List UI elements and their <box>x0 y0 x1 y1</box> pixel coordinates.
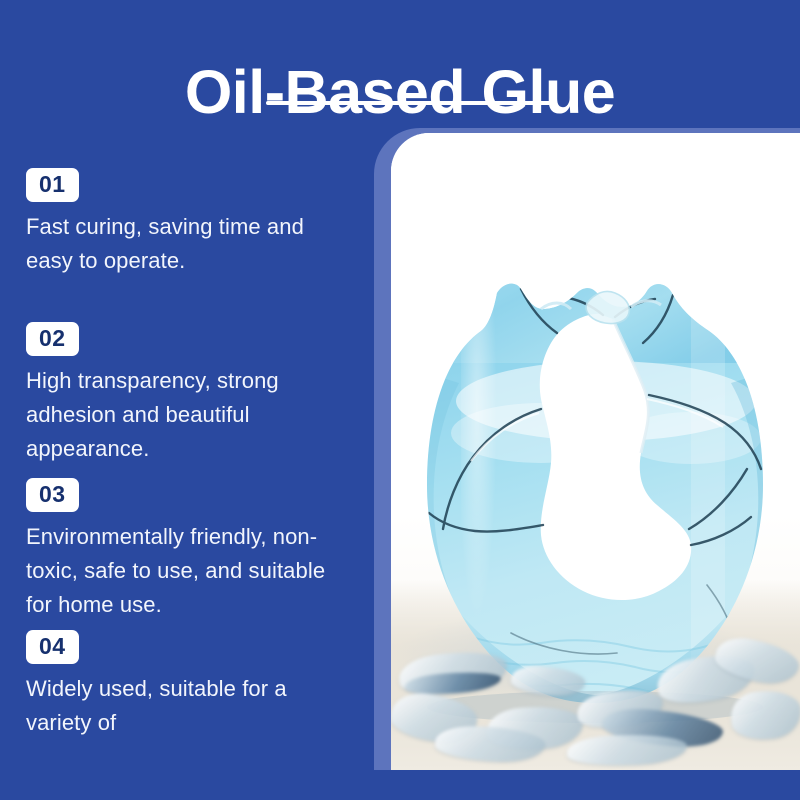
page-title: Oil-Based Glue <box>0 57 800 127</box>
feature-text: High transparency, strong adhesion and b… <box>26 364 341 466</box>
feature-list: 01 Fast curing, saving time and easy to … <box>26 168 351 740</box>
feature-text: Widely used, suitable for a variety of <box>26 672 341 740</box>
feature-number-badge: 04 <box>26 630 79 664</box>
feature-number-badge: 01 <box>26 168 79 202</box>
feature-item-04: 04 Widely used, suitable for a variety o… <box>26 630 351 740</box>
feature-text: Fast curing, saving time and easy to ope… <box>26 210 341 278</box>
bottom-blue-strip <box>0 770 800 800</box>
feature-item-03: 03 Environmentally friendly, non-toxic, … <box>26 478 351 622</box>
feature-item-02: 02 High transparency, strong adhesion an… <box>26 322 351 466</box>
feature-number-badge: 02 <box>26 322 79 356</box>
feature-text: Environmentally friendly, non-toxic, saf… <box>26 520 341 622</box>
glass-shards <box>391 595 800 770</box>
feature-item-01: 01 Fast curing, saving time and easy to … <box>26 168 351 278</box>
title-divider <box>266 101 551 105</box>
product-feature-poster: Oil-Based Glue 01 Fast curing, saving ti… <box>0 0 800 800</box>
product-image-panel <box>391 133 800 770</box>
product-photo <box>391 133 800 770</box>
feature-number-badge: 03 <box>26 478 79 512</box>
